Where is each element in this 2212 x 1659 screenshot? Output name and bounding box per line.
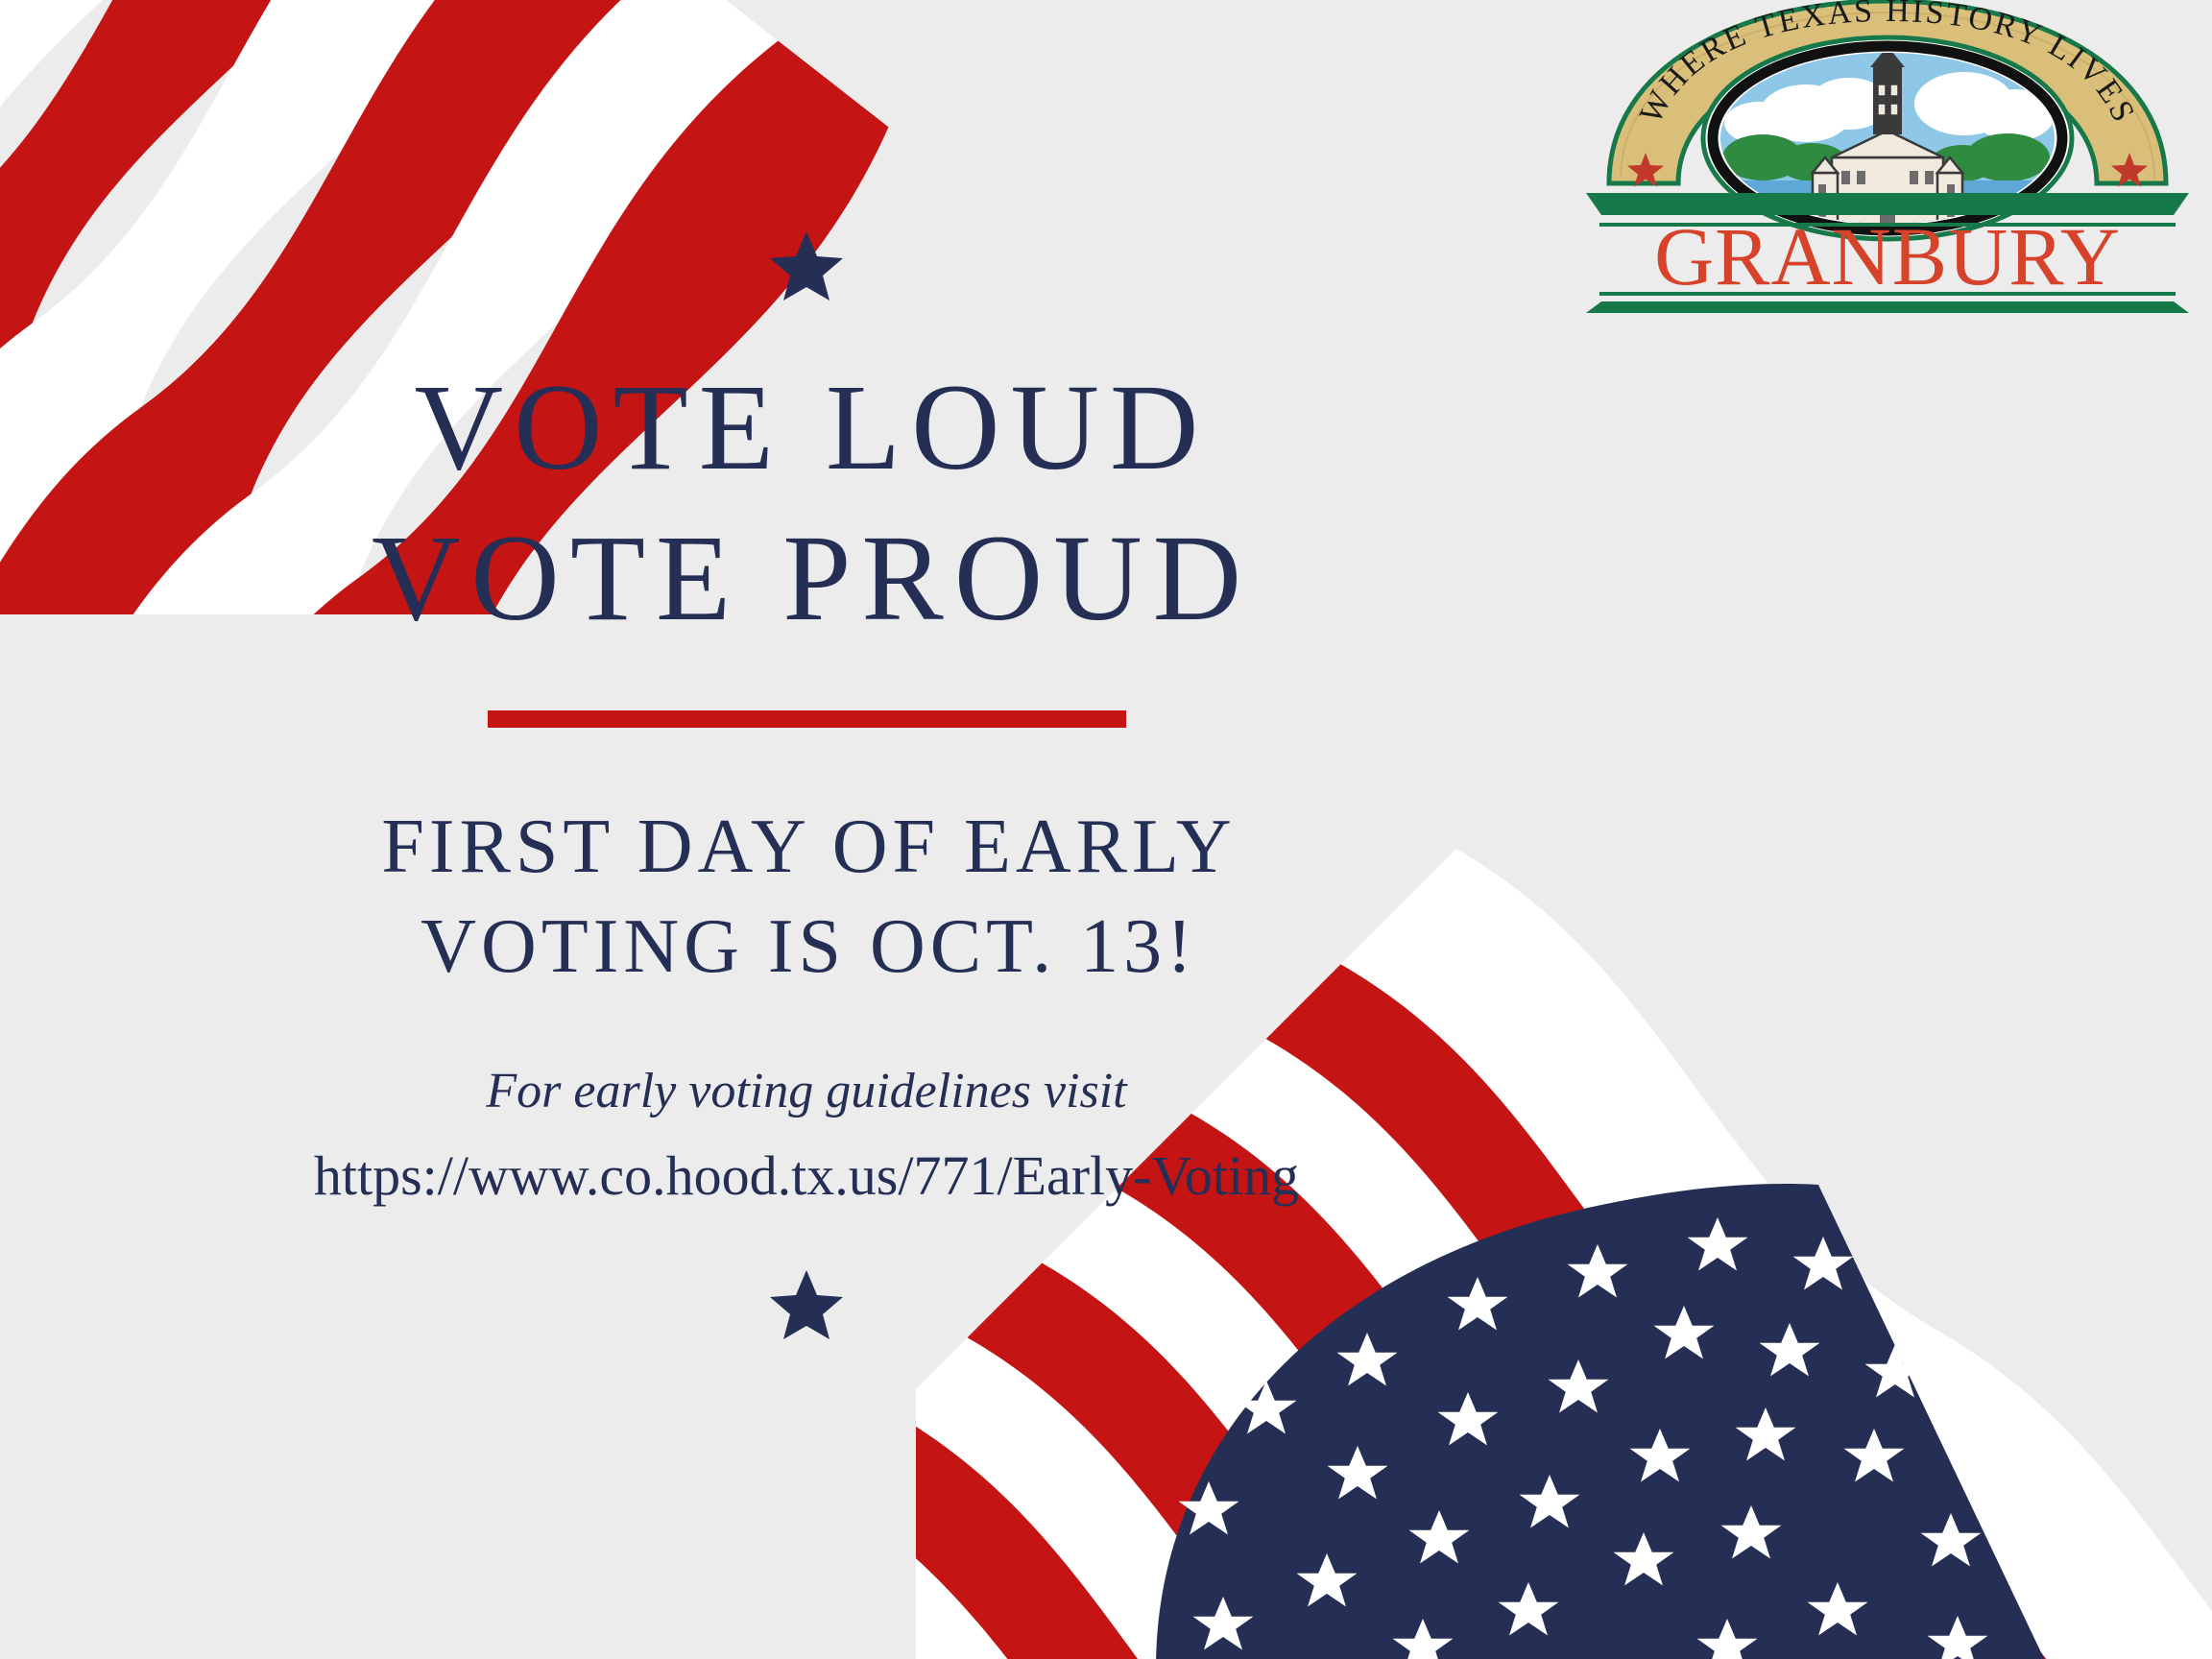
logo-green-bar-bottom	[1586, 301, 2189, 313]
subheading-line-2: VOTING IS OCT. 13!	[416, 901, 1196, 993]
poster-content: VOTE LOUD VOTE PROUD FIRST DAY OF EARLY …	[0, 0, 1613, 1659]
headline-line-2: VOTE PROUD	[361, 506, 1252, 651]
logo-wordmark: GRANBURY	[1654, 210, 2121, 302]
early-voting-url[interactable]: https://www.co.hood.tx.us/771/Early-Voti…	[314, 1142, 1299, 1212]
decorative-star-top-icon	[769, 230, 844, 301]
granbury-city-logo: WHERE TEXAS HISTORY LIVES	[1571, 0, 2204, 313]
poster-canvas: WHERE TEXAS HISTORY LIVES	[0, 0, 2212, 1659]
subheading-line-1: FIRST DAY OF EARLY	[376, 801, 1236, 893]
decorative-star-bottom-icon	[769, 1269, 844, 1340]
logo-green-rule-bottom	[1599, 292, 2176, 296]
red-divider-rule	[488, 710, 1126, 728]
headline-line-1: VOTE LOUD	[404, 355, 1210, 500]
guidelines-note: For early voting guidelines visit	[486, 1060, 1126, 1122]
